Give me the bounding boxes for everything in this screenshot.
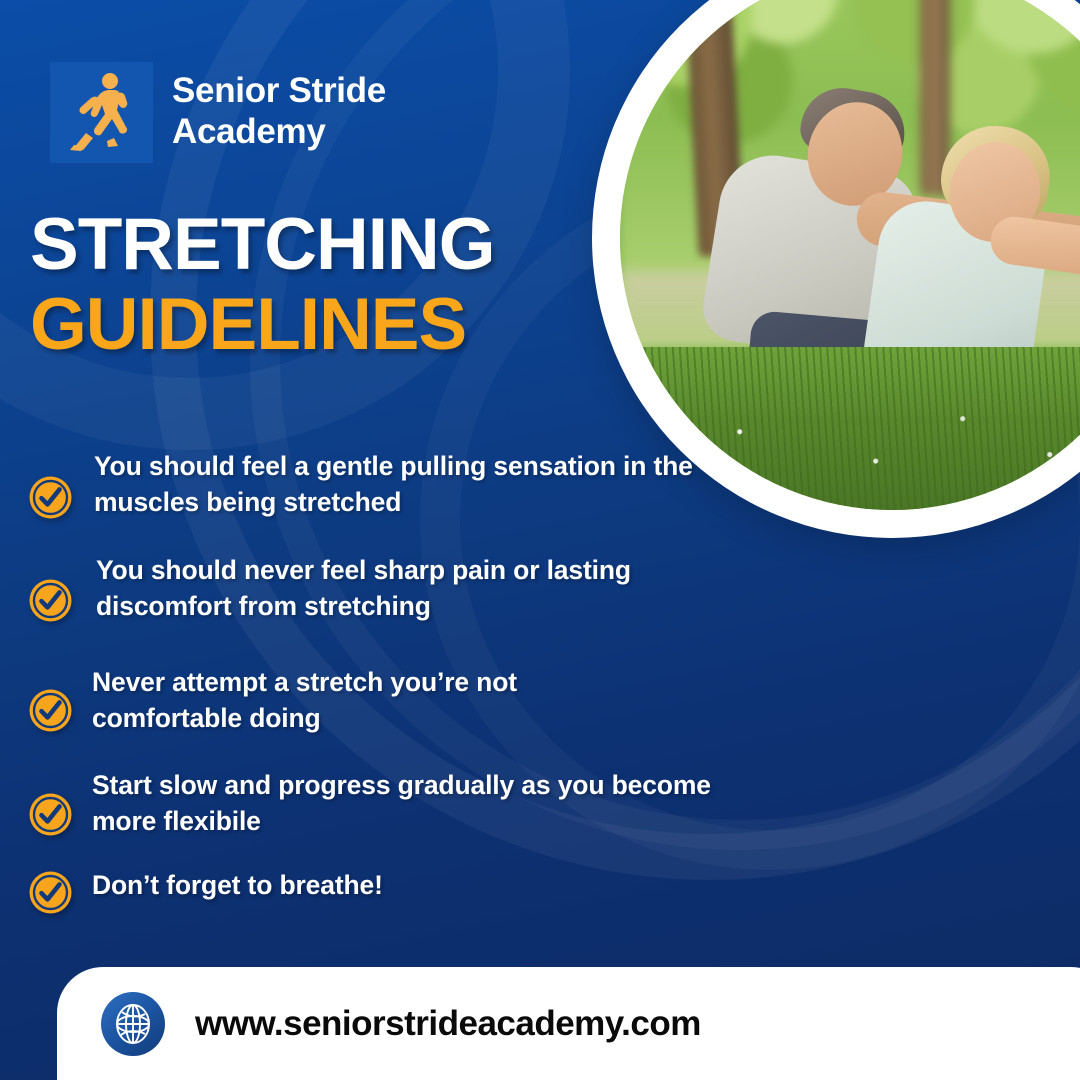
check-circle-icon — [28, 688, 73, 733]
list-item: You should never feel sharp pain or last… — [28, 553, 728, 624]
check-circle-icon — [28, 870, 73, 915]
headline-line-2: GUIDELINES — [30, 290, 590, 361]
headline-line-1: STRETCHING — [30, 210, 590, 281]
list-item: Never attempt a stretch you’re not comfo… — [28, 665, 728, 736]
list-item-label: Start slow and progress gradually as you… — [92, 768, 712, 839]
globe-icon — [101, 992, 165, 1056]
list-item-label: Never attempt a stretch you’re not comfo… — [92, 665, 652, 736]
website-url[interactable]: www.seniorstrideacademy.com — [195, 1004, 701, 1044]
brand-name: Senior Stride Academy — [172, 70, 386, 153]
list-item: Start slow and progress gradually as you… — [28, 768, 728, 839]
check-circle-icon — [28, 475, 73, 520]
list-item: Don’t forget to breathe! — [28, 868, 728, 915]
brand-lockup: Senior Stride Academy — [50, 62, 386, 163]
poster-canvas: Senior Stride Academy STRETCHING GUIDELI… — [0, 0, 1080, 1080]
check-circle-icon — [28, 792, 73, 837]
brand-name-line1: Senior Stride — [172, 71, 386, 110]
list-item: You should feel a gentle pulling sensati… — [28, 449, 728, 520]
list-item-label: Don’t forget to breathe! — [92, 868, 652, 904]
hero-photo — [620, 0, 1080, 510]
check-circle-icon — [28, 578, 73, 623]
list-item-label: You should never feel sharp pain or last… — [96, 553, 656, 624]
list-item-label: You should feel a gentle pulling sensati… — [94, 449, 704, 520]
footer-bar: www.seniorstrideacademy.com — [57, 967, 1080, 1080]
brand-name-line2: Academy — [172, 112, 326, 151]
guidelines-list: You should feel a gentle pulling sensati… — [28, 440, 728, 915]
logo-tile — [50, 62, 153, 163]
page-title: STRETCHING GUIDELINES — [30, 210, 590, 361]
running-person-icon — [64, 72, 140, 154]
